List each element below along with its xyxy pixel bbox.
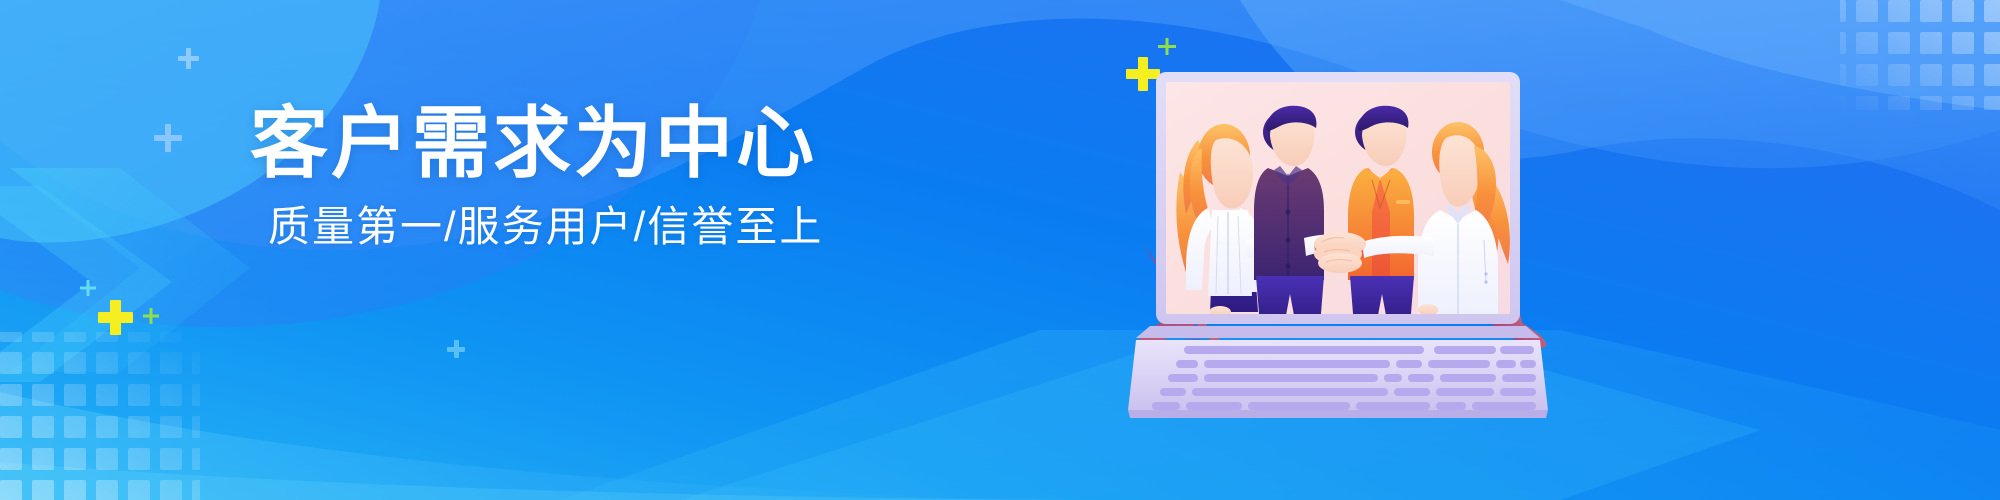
- plus-cyan-small-bottom-left-icon: [80, 280, 96, 296]
- laptop-team-illustration: [1128, 44, 1548, 444]
- page-title: 客户需求为中心: [250, 104, 910, 182]
- headline-block: 客户需求为中心 质量第一/服务用户/信誉至上: [250, 104, 910, 248]
- plus-decorations: [0, 0, 2000, 500]
- plus-green-small-bottom-left-icon: [143, 308, 159, 324]
- plus-white-medium-left-icon: [154, 124, 182, 152]
- page-subtitle: 质量第一/服务用户/信誉至上: [268, 206, 910, 248]
- plus-yellow-large-bottom-left-icon: [98, 300, 133, 335]
- plus-white-small-top-left-icon: [178, 48, 199, 69]
- stacked-hands: [1314, 232, 1366, 273]
- marketing-banner: 客户需求为中心 质量第一/服务用户/信誉至上: [0, 0, 2000, 500]
- plus-cyan-bottom-mid-icon: [447, 340, 465, 358]
